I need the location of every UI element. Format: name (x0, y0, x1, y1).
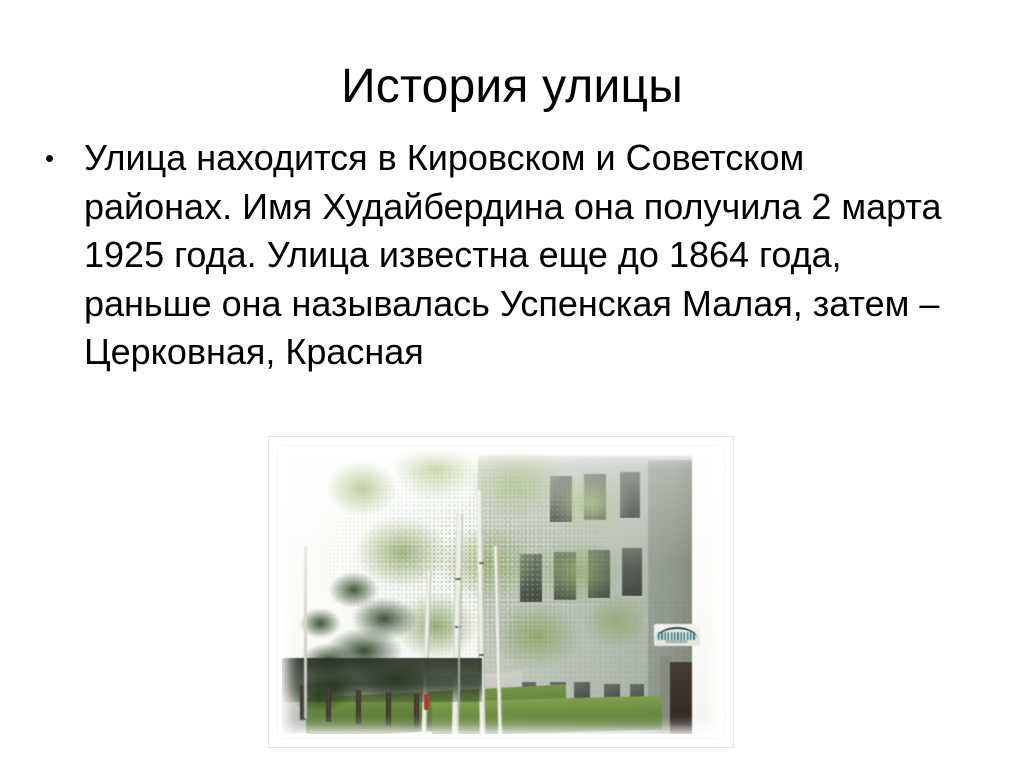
photo-tree-trunk (356, 690, 361, 724)
photo-birch-bark-mark (479, 654, 484, 656)
shop-sign-lettering (658, 632, 696, 640)
bullet-list: Улица находится в Кировском и Советском … (40, 134, 960, 377)
photo-shop-sign (654, 624, 700, 646)
photo-doorway (670, 662, 692, 734)
slide: История улицы Улица находится в Кировско… (0, 0, 1024, 767)
photo-frame (268, 436, 734, 748)
photo-tree-trunk (326, 688, 331, 722)
photo-tree-trunk (386, 692, 391, 726)
photo-lamp-post (304, 546, 307, 718)
photo-birch-bark-mark (479, 562, 484, 564)
list-item: Улица находится в Кировском и Советском … (40, 134, 960, 377)
photo-lamp-post (458, 600, 460, 710)
page-title: История улицы (0, 58, 1024, 116)
street-photo (282, 450, 720, 734)
photo-birch-bark-mark (455, 578, 461, 580)
photo-tree-trunk (414, 694, 419, 728)
photo-tree-shadow-row (282, 658, 482, 702)
shop-sign-subtext (666, 640, 688, 643)
photo-pedestrian (424, 694, 429, 710)
